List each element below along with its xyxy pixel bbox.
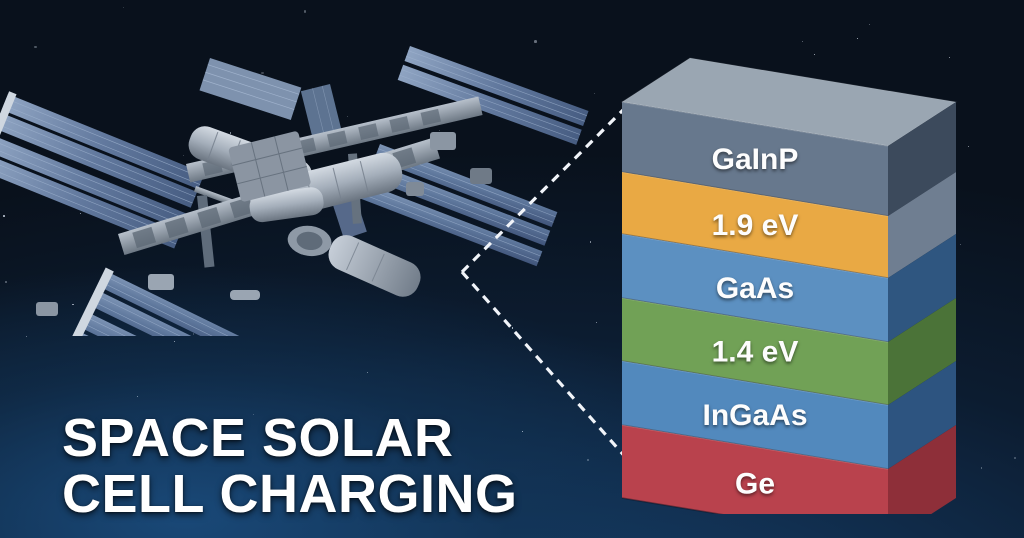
page-title: SPACE SOLAR CELL CHARGING (62, 410, 518, 522)
stack-layer-label: 1.4 eV (712, 336, 799, 369)
space-scene: GaInP1.9 eVGaAs1.4 eVInGaAsGe SPACE SOLA… (0, 0, 1024, 538)
star (174, 341, 175, 342)
stack-layer-label: GaInP (712, 143, 799, 176)
stack-layer-label: GaAs (716, 272, 794, 305)
solar-array-port-lower (67, 268, 289, 336)
solar-cell-layer-stack: GaInP1.9 eVGaAs1.4 eVInGaAsGe (600, 14, 960, 514)
star (968, 146, 969, 147)
title-line-1: SPACE SOLAR (62, 410, 518, 466)
star (137, 396, 138, 397)
star (367, 372, 368, 373)
star (981, 467, 983, 469)
stack-layer-label: InGaAs (702, 399, 807, 432)
stack-layer-label: 1.9 eV (712, 209, 799, 242)
star (1014, 457, 1016, 459)
star (304, 10, 307, 13)
stack-layer-label: Ge (735, 468, 775, 501)
title-line-2: CELL CHARGING (62, 466, 518, 522)
star (123, 7, 124, 8)
